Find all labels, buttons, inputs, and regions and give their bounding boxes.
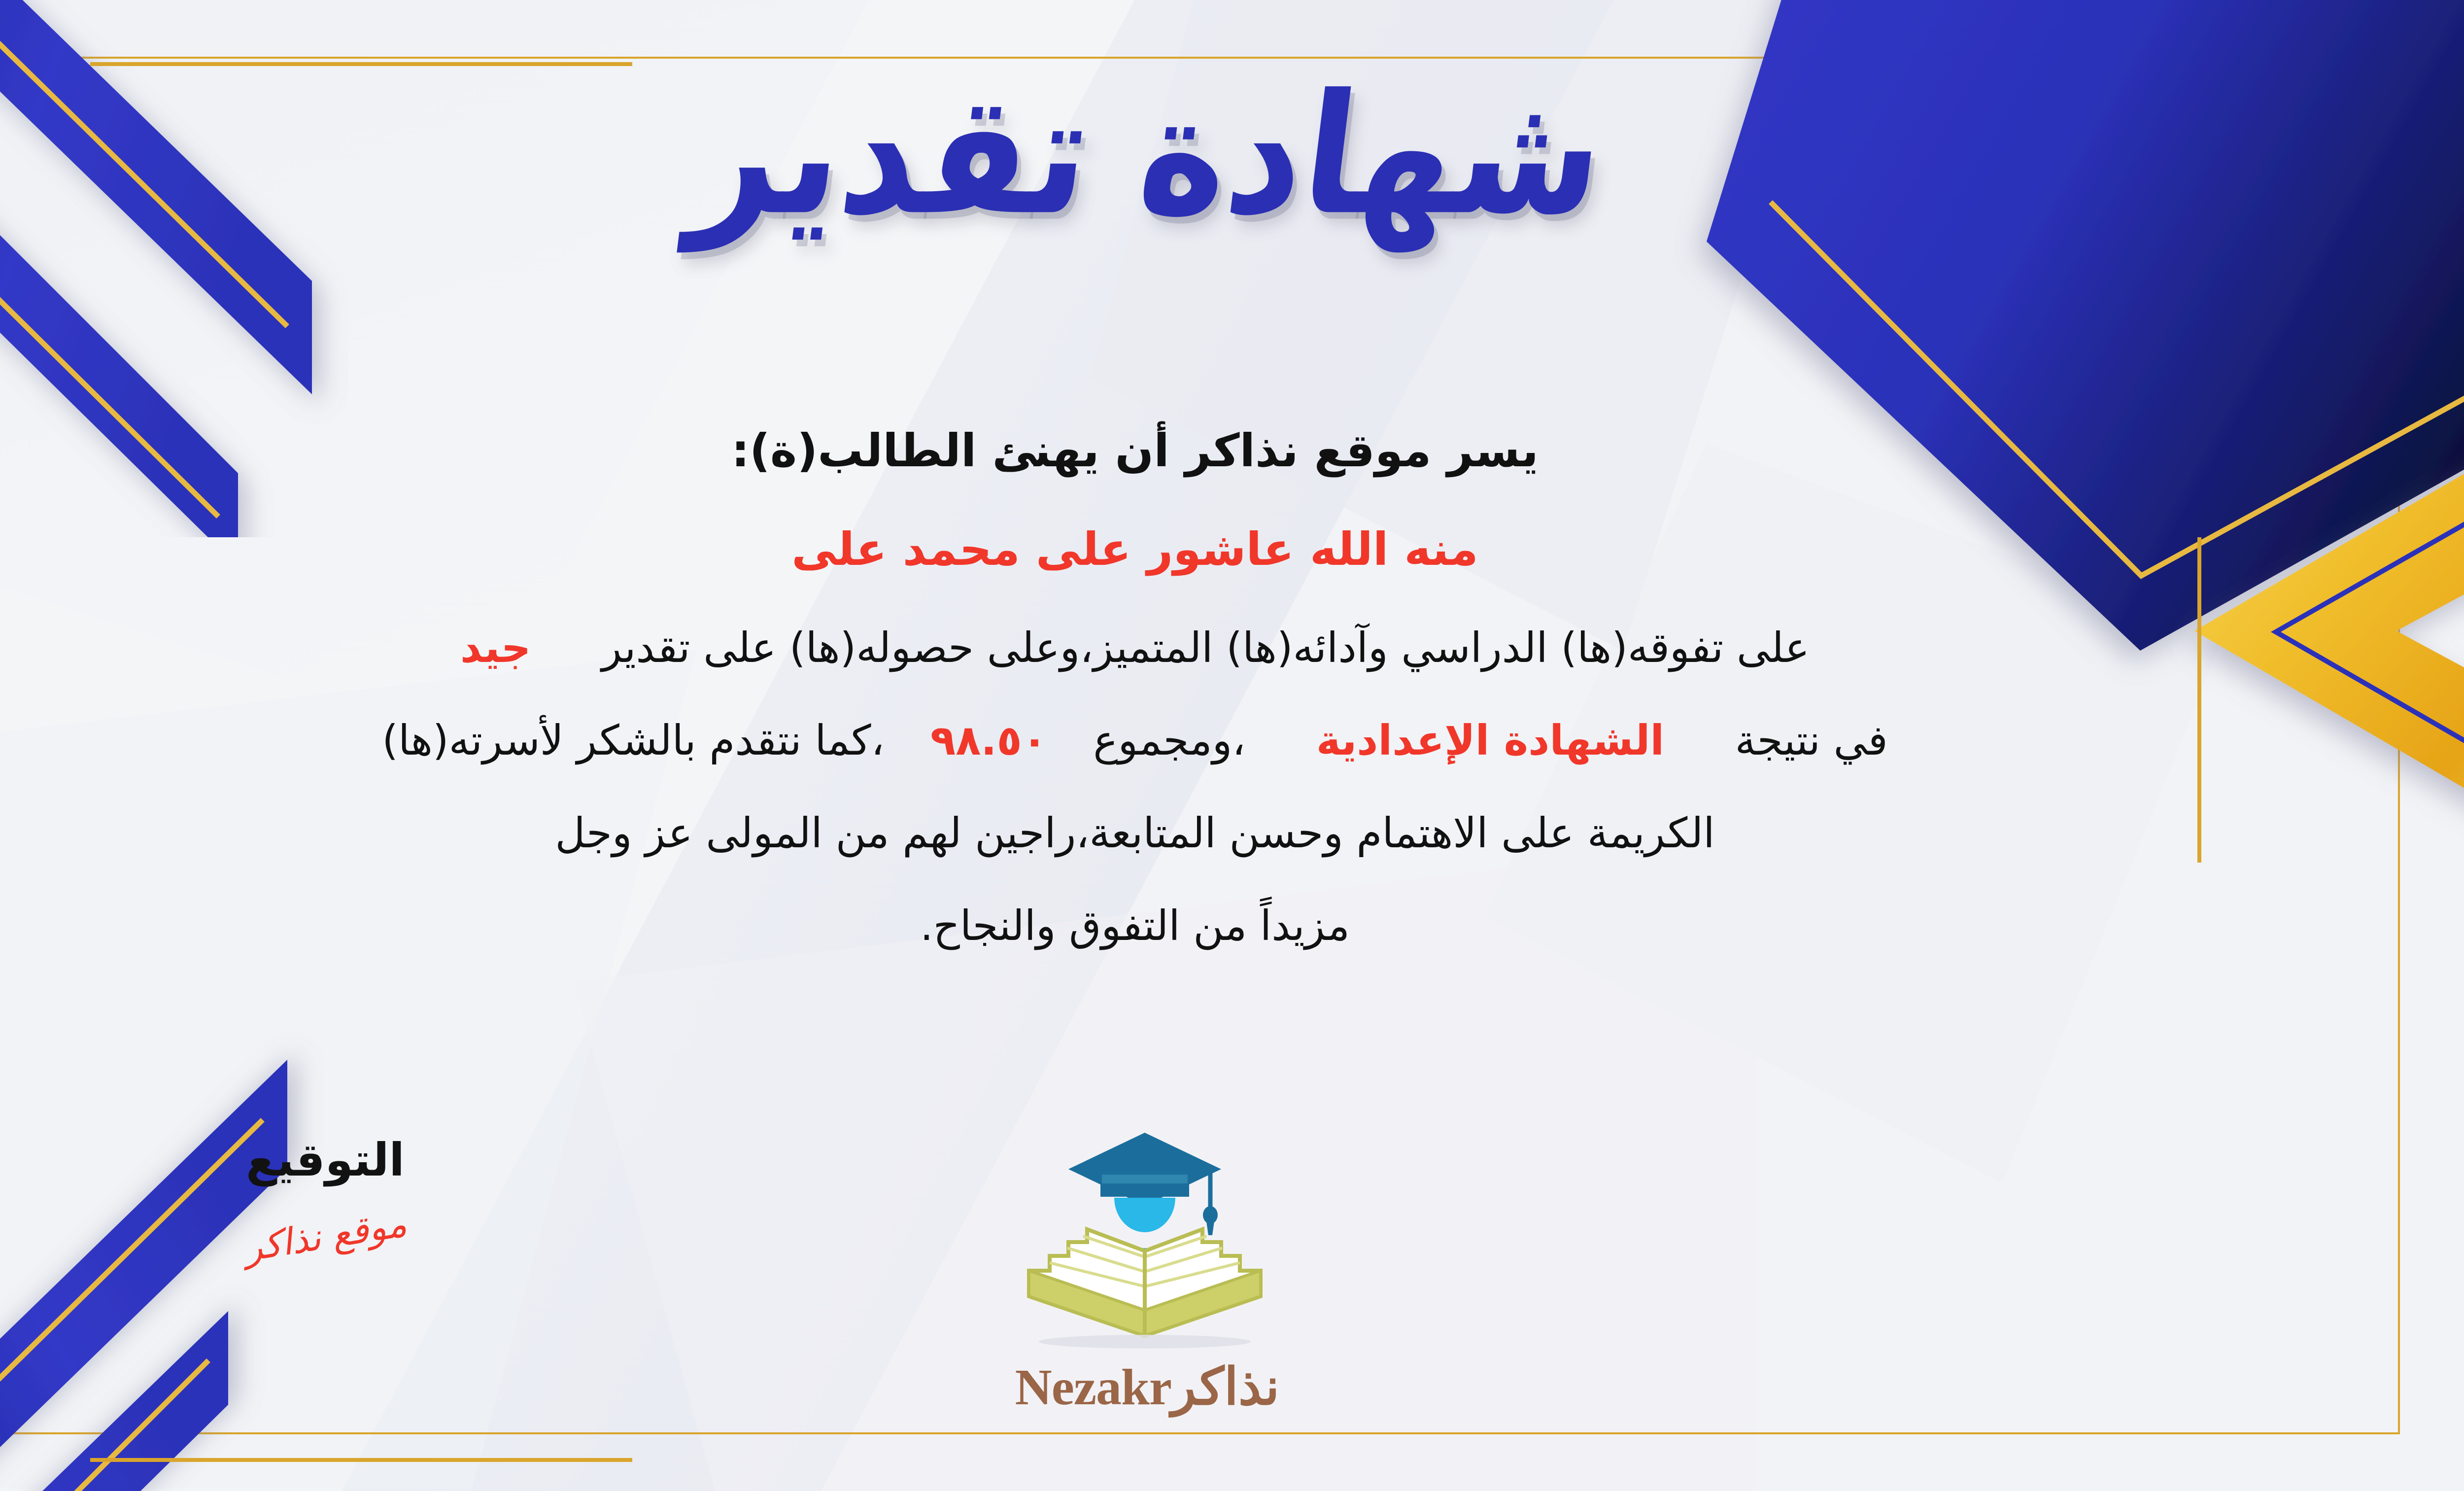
total-score: ٩٨.٥٠	[930, 716, 1047, 764]
graduate-on-book-logo-icon	[1009, 1124, 1285, 1355]
body-line-4: مزيداً من التفوق والنجاح.	[11, 879, 2259, 972]
signature-script: موقع نذاكر	[241, 1203, 410, 1270]
certificate-title-wrap: شهادة تقدير	[0, 81, 2464, 229]
brand-name-latin: Nezakr	[1015, 1359, 1171, 1416]
body-line-2-suffix: ،كما نتقدم بالشكر لأسرته(ها)	[382, 716, 884, 764]
body-line-1: على تفوقه(ها) الدراسي وآدائه(ها) المتميز…	[11, 601, 2259, 694]
student-name: منه الله عاشور على محمد على	[11, 498, 2259, 601]
body-line-2-prefix: في نتيجة	[1735, 716, 1888, 764]
signature-block: التوقيع موقع نذاكر	[138, 1134, 513, 1257]
certificate-body: يسر موقع نذاكر أن يهنئ الطالب(ة): منه ال…	[11, 404, 2259, 972]
body-line-3: الكريمة على الاهتمام وحسن المتابعة،راجين…	[11, 787, 2259, 879]
certificate-document: شهادة تقدير يسر موقع نذاكر أن يهنئ الطال…	[0, 0, 2464, 1491]
brand-logo-text: نذاكرNezakr	[960, 1356, 1335, 1417]
greeting-line: يسر موقع نذاكر أن يهنئ الطالب(ة):	[11, 404, 2259, 498]
body-line-1-text: على تفوقه(ها) الدراسي وآدائه(ها) المتميز…	[602, 624, 1810, 672]
brand-name-arabic: نذاكر	[1171, 1359, 1279, 1416]
body-line-2-mid: ،ومجموع	[1093, 716, 1245, 764]
page-title: شهادة تقدير	[685, 72, 1613, 238]
signature-label: التوقيع	[138, 1134, 513, 1186]
exam-name: الشهادة الإعدادية	[1316, 716, 1664, 764]
grade-value: جيد	[460, 624, 531, 672]
body-line-2: في نتيجة الشهادة الإعدادية ،ومجموع ٩٨.٥٠…	[11, 694, 2259, 787]
brand-logo: نذاكرNezakr	[960, 1124, 1335, 1439]
